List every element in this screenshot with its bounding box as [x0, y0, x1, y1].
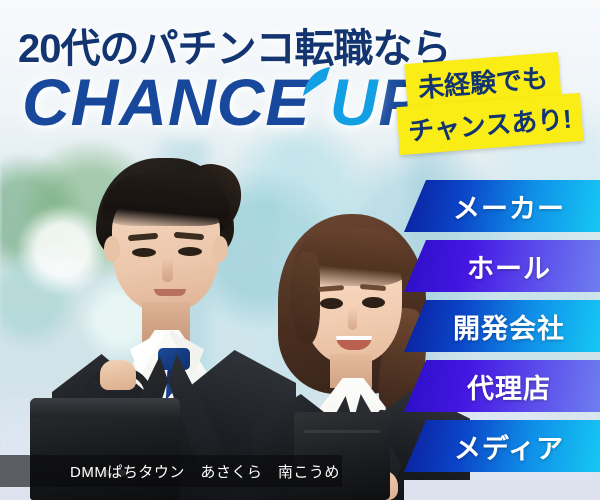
man-hand [100, 360, 136, 390]
status-badge: 未経験でも チャンスあり! [398, 54, 598, 160]
man-ear-left [104, 236, 120, 262]
credit-text: DMMぱちタウン あさくら 南こうめ [0, 461, 340, 482]
woman-side-hair [290, 252, 320, 344]
category-list: メーカー ホール 開発会社 代理店 メディア [404, 180, 600, 472]
category-label: 代理店 [453, 367, 551, 406]
category-button-developer[interactable]: 開発会社 [404, 300, 600, 352]
man-fringe [102, 174, 230, 226]
bottom-right-fill [404, 480, 600, 500]
category-button-hall[interactable]: ホール [404, 240, 600, 292]
briefcase-seam [304, 430, 380, 433]
category-label: 開発会社 [439, 307, 565, 346]
woman-eye-left [320, 298, 343, 309]
man-mouth [154, 289, 186, 296]
category-button-agency[interactable]: 代理店 [404, 360, 600, 412]
man-eye-right [178, 247, 202, 256]
logo-chance-text: CHANCE [22, 65, 330, 139]
category-button-maker[interactable]: メーカー [404, 180, 600, 232]
category-label: ホール [453, 247, 551, 286]
woman-eye-right [362, 297, 385, 308]
briefcase-flap [30, 398, 180, 418]
category-label: メーカー [439, 187, 565, 226]
advertisement-banner[interactable]: 20代のパチンコ転職なら CHANCE UP 未経験でも チャンスあり! メーカ… [0, 0, 600, 500]
category-button-media[interactable]: メディア [404, 420, 600, 472]
man-ear-right [212, 236, 228, 262]
category-label: メディア [440, 427, 564, 466]
logo-wordmark: CHANCE UP [22, 64, 423, 140]
woman-nose [348, 308, 357, 330]
credit-bar: DMMぱちタウン あさくら 南こうめ [0, 455, 342, 487]
logo-up-u: U [330, 65, 379, 139]
man-eye-left [132, 248, 156, 257]
man-nose [162, 258, 173, 282]
